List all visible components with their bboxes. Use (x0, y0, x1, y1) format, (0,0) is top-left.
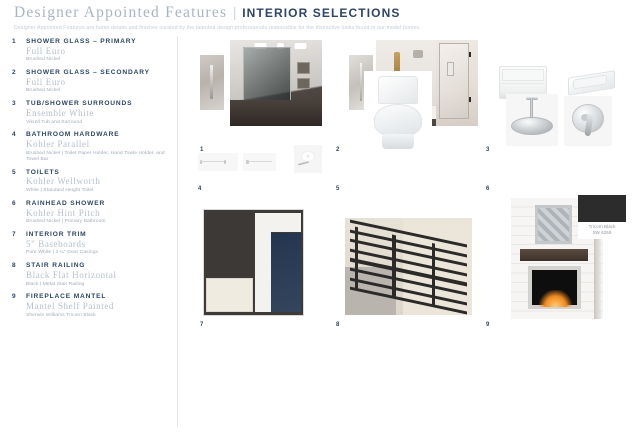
spec-body: Full Euro Brushed Nickel (12, 46, 170, 64)
color-swatch-card[interactable]: Tricorn Black SW 6258 (578, 195, 626, 239)
image-rainhead-showerhead[interactable] (506, 94, 558, 146)
spec-title: TUB/SHOWER SURROUNDS (26, 100, 132, 107)
image-towel-bar[interactable] (198, 153, 238, 171)
spec-number: 5 (12, 169, 26, 176)
image-toilet-paper-holder[interactable] (294, 145, 322, 173)
spec-number: 8 (12, 262, 26, 269)
header-description: Designer Appointed Features are home det… (14, 25, 640, 31)
color-swatch-label: Tricorn Black SW 6258 (578, 222, 626, 236)
spec-body: Mantel Shelf Painted Sherwin Williams Tr… (12, 301, 170, 319)
spec-number: 4 (12, 131, 26, 138)
spec-header: 6 RAINHEAD SHOWER (12, 200, 170, 207)
spec-title: SHOWER GLASS – PRIMARY (26, 38, 136, 45)
spec-header: 8 STAIR RAILING (12, 262, 170, 269)
spec-body: Kohler Hint Pitch Brushed Nickel | Prima… (12, 208, 170, 226)
spec-product: Mantel Shelf Painted (26, 301, 170, 312)
spec-title: TOILETS (26, 169, 60, 176)
spec-body: Kohler Parallel Brushed Nickel | Toilet … (12, 139, 170, 164)
spec-item-stair-railing[interactable]: 8 STAIR RAILING Black Flat Horizontal Bl… (12, 262, 170, 288)
page-header: Designer Appointed Features | INTERIOR S… (0, 0, 640, 32)
spec-product: Kohler Wellworth (26, 176, 170, 187)
spec-number: 9 (12, 293, 26, 300)
page-subtitle: INTERIOR SELECTIONS (242, 6, 400, 20)
spec-detail: Black | Metal Stair Railing (26, 282, 170, 288)
spec-title: STAIR RAILING (26, 262, 85, 269)
image-gallery: 1 2 (178, 34, 640, 437)
spec-title: INTERIOR TRIM (26, 231, 87, 238)
spec-number: 1 (12, 38, 26, 45)
spec-detail: Brushed Nickel | Primary Bathroom (26, 219, 170, 225)
image-label-3: 3 (486, 147, 489, 153)
spec-body: 5" Baseboards Pure White | 3 ¼" Door Cas… (12, 239, 170, 257)
spec-number: 6 (12, 200, 26, 207)
spec-header: 7 INTERIOR TRIM (12, 231, 170, 238)
spec-item-fireplace-mantel[interactable]: 9 FIREPLACE MANTEL Mantel Shelf Painted … (12, 293, 170, 319)
spec-item-interior-trim[interactable]: 7 INTERIOR TRIM 5" Baseboards Pure White… (12, 231, 170, 257)
spec-product: 5" Baseboards (26, 239, 170, 250)
spec-product: Kohler Hint Pitch (26, 208, 170, 219)
spec-header: 3 TUB/SHOWER SURROUNDS (12, 100, 170, 107)
spec-item-toilets[interactable]: 5 TOILETS Kohler Wellworth White | Stand… (12, 169, 170, 195)
spec-item-bathroom-hardware[interactable]: 4 BATHROOM HARDWARE Kohler Parallel Brus… (12, 131, 170, 163)
spec-header: 9 FIREPLACE MANTEL (12, 293, 170, 300)
image-label-6: 6 (486, 186, 489, 192)
image-shower-glass-primary[interactable] (230, 40, 322, 126)
image-toilet[interactable] (364, 71, 432, 154)
title-separator: | (233, 5, 236, 22)
image-shower-valve-trim[interactable] (564, 96, 612, 146)
spec-body: Ensemble White Vikrell Tub and Surround (12, 108, 170, 126)
spec-product: Full Euro (26, 46, 170, 57)
color-swatch-code: SW 6258 (578, 230, 626, 236)
spec-title: RAINHEAD SHOWER (26, 200, 105, 207)
image-interior-trim-swatches[interactable] (200, 206, 307, 319)
image-label-9: 9 (486, 322, 489, 328)
spec-title: FIREPLACE MANTEL (26, 293, 106, 300)
spec-detail: Brushed Nickel | Toilet Paper Holder, Ha… (26, 151, 170, 164)
spec-body: Full Euro Brushed Nickel (12, 77, 170, 95)
image-label-4: 4 (198, 186, 201, 192)
spec-title: BATHROOM HARDWARE (26, 131, 119, 138)
spec-product: Full Euro (26, 77, 170, 88)
color-swatch-chip (578, 195, 626, 222)
spec-detail: Brushed Nickel (26, 57, 170, 63)
spec-detail: White | Standard Height Toilet (26, 188, 170, 194)
image-label-2: 2 (336, 147, 339, 153)
spec-detail: Pure White | 3 ¼" Door Casings (26, 250, 170, 256)
image-label-8: 8 (336, 322, 339, 328)
spec-item-shower-glass-secondary[interactable]: 2 SHOWER GLASS – SECONDARY Full Euro Bru… (12, 69, 170, 95)
spec-number: 7 (12, 231, 26, 238)
spec-item-tub-shower-surrounds[interactable]: 3 TUB/SHOWER SURROUNDS Ensemble White Vi… (12, 100, 170, 126)
image-hand-towel-holder[interactable] (243, 153, 276, 171)
spec-product: Kohler Parallel (26, 139, 170, 150)
spec-detail: Sherwin Williams Tricorn Black (26, 313, 170, 319)
image-stair-railing[interactable] (345, 218, 472, 315)
image-shower-enclosure[interactable] (436, 40, 478, 126)
spec-item-rainhead-shower[interactable]: 6 RAINHEAD SHOWER Kohler Hint Pitch Brus… (12, 200, 170, 226)
content-area: 1 SHOWER GLASS – PRIMARY Full Euro Brush… (0, 34, 640, 437)
page-title: Designer Appointed Features (14, 4, 227, 22)
spec-detail: Brushed Nickel (26, 88, 170, 94)
image-label-7: 7 (200, 322, 203, 328)
specifications-list: 1 SHOWER GLASS – PRIMARY Full Euro Brush… (0, 34, 178, 437)
spec-number: 2 (12, 69, 26, 76)
spec-header: 5 TOILETS (12, 169, 170, 176)
spec-body: Black Flat Horizontal Black | Metal Stai… (12, 270, 170, 288)
spec-title: SHOWER GLASS – SECONDARY (26, 69, 150, 76)
header-title-row: Designer Appointed Features | INTERIOR S… (14, 4, 640, 22)
image-label-5: 5 (336, 186, 339, 192)
spec-product: Ensemble White (26, 108, 170, 119)
image-shower-glass-primary-swatch[interactable] (200, 55, 224, 110)
spec-header: 1 SHOWER GLASS – PRIMARY (12, 38, 170, 45)
spec-detail: Vikrell Tub and Surround (26, 120, 170, 126)
spec-body: Kohler Wellworth White | Standard Height… (12, 176, 170, 194)
spec-header: 4 BATHROOM HARDWARE (12, 131, 170, 138)
spec-product: Black Flat Horizontal (26, 270, 170, 281)
spec-item-shower-glass-primary[interactable]: 1 SHOWER GLASS – PRIMARY Full Euro Brush… (12, 38, 170, 64)
spec-header: 2 SHOWER GLASS – SECONDARY (12, 69, 170, 76)
spec-number: 3 (12, 100, 26, 107)
